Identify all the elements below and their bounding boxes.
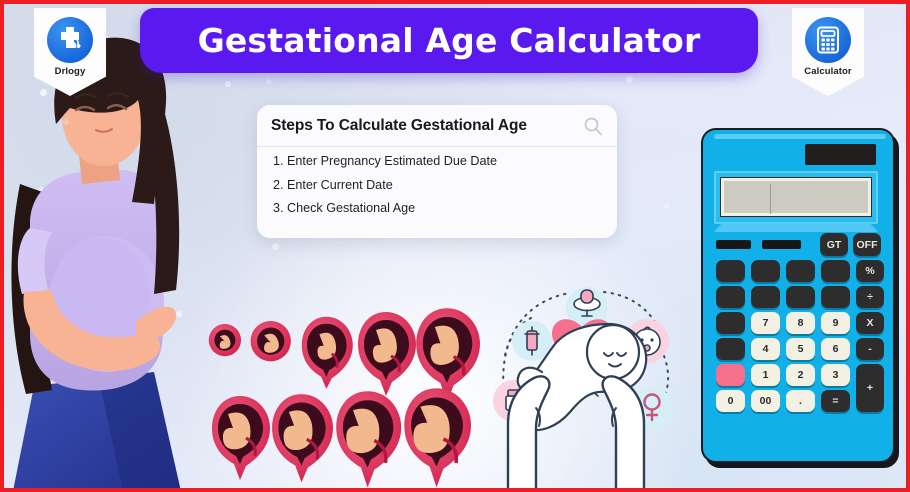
page-title: Gestational Age Calculator [198, 21, 701, 60]
doctor-cross-icon [47, 17, 93, 63]
calc-key-accent[interactable] [716, 364, 745, 386]
calculator-top-highlight [714, 134, 886, 139]
display-cursor [770, 184, 771, 214]
calc-key-3[interactable]: 3 [821, 364, 850, 386]
calculator-display-frame [714, 171, 878, 224]
calculator-body: GT OFF % ÷ 7 8 9 X 4 5 6 - [701, 128, 895, 463]
calc-key-decimal[interactable]: . [786, 390, 815, 412]
bokeh-dot [176, 311, 182, 317]
step-text: Check Gestational Age [287, 202, 415, 215]
calc-bar-key[interactable] [716, 240, 751, 249]
calculator-icon [805, 17, 851, 63]
calc-key-00[interactable]: 00 [751, 390, 780, 412]
calc-key-equals[interactable]: = [821, 390, 850, 412]
calc-key-gt[interactable]: GT [820, 233, 848, 256]
calc-key-multiply[interactable]: X [856, 312, 884, 334]
list-item: 3. Check Gestational Age [273, 202, 617, 215]
calc-key-9[interactable]: 9 [821, 312, 850, 334]
calc-key-blank[interactable] [716, 260, 745, 282]
list-item: 1. Enter Pregnancy Estimated Due Date [273, 155, 617, 168]
page-title-banner: Gestational Age Calculator [140, 8, 758, 73]
calc-key-4[interactable]: 4 [751, 338, 780, 360]
steps-card-title: Steps To Calculate Gestational Age [271, 117, 527, 135]
calculator-display [721, 178, 871, 216]
calc-key-7[interactable]: 7 [751, 312, 780, 334]
calculator-device: GT OFF % ÷ 7 8 9 X 4 5 6 - [701, 128, 895, 463]
calc-key-blank[interactable] [821, 260, 850, 282]
bokeh-dot [162, 203, 170, 211]
search-icon[interactable] [583, 116, 603, 136]
calc-key-blank[interactable] [716, 312, 745, 334]
bokeh-dot [38, 187, 43, 192]
step-number: 3. [273, 202, 287, 215]
bokeh-dot [225, 81, 231, 87]
tool-badge-label: Calculator [792, 66, 864, 77]
calc-key-divide[interactable]: ÷ [856, 286, 884, 308]
steps-card-header: Steps To Calculate Gestational Age [257, 105, 617, 147]
steps-list: 1. Enter Pregnancy Estimated Due Date 2.… [257, 147, 617, 215]
brand-badge-drlogy[interactable]: Drlogy [34, 8, 106, 96]
calc-key-minus[interactable]: - [856, 338, 884, 360]
calc-key-blank[interactable] [716, 286, 745, 308]
calc-bar-key[interactable] [762, 240, 801, 249]
bokeh-dot [272, 243, 279, 250]
calc-key-0[interactable]: 0 [716, 390, 745, 412]
list-item: 2. Enter Current Date [273, 179, 617, 192]
calc-key-plus[interactable]: + [856, 364, 884, 412]
screenshot-frame: Drlogy Gestational Age Calculator [0, 0, 910, 492]
step-text: Enter Pregnancy Estimated Due Date [287, 155, 497, 168]
calc-key-2[interactable]: 2 [786, 364, 815, 386]
calc-key-blank[interactable] [786, 260, 815, 282]
bokeh-dot [664, 204, 669, 209]
calc-key-blank[interactable] [821, 286, 850, 308]
calc-key-blank[interactable] [716, 338, 745, 360]
solar-panel [805, 144, 876, 165]
bokeh-dot [626, 76, 633, 83]
calc-key-percent[interactable]: % [856, 260, 884, 282]
steps-card: Steps To Calculate Gestational Age 1. En… [257, 105, 617, 238]
calc-key-blank[interactable] [786, 286, 815, 308]
calc-key-blank[interactable] [751, 260, 780, 282]
calc-key-5[interactable]: 5 [786, 338, 815, 360]
step-number: 1. [273, 155, 287, 168]
calculator-display-bevel [714, 223, 878, 232]
step-number: 2. [273, 179, 287, 192]
calc-key-6[interactable]: 6 [821, 338, 850, 360]
step-text: Enter Current Date [287, 179, 393, 192]
bokeh-dot [266, 79, 271, 84]
calc-key-8[interactable]: 8 [786, 312, 815, 334]
calc-key-blank[interactable] [751, 286, 780, 308]
calc-key-1[interactable]: 1 [751, 364, 780, 386]
calc-key-off[interactable]: OFF [853, 233, 881, 256]
tool-badge-calculator[interactable]: Calculator [792, 8, 864, 96]
brand-badge-label: Drlogy [34, 66, 106, 77]
